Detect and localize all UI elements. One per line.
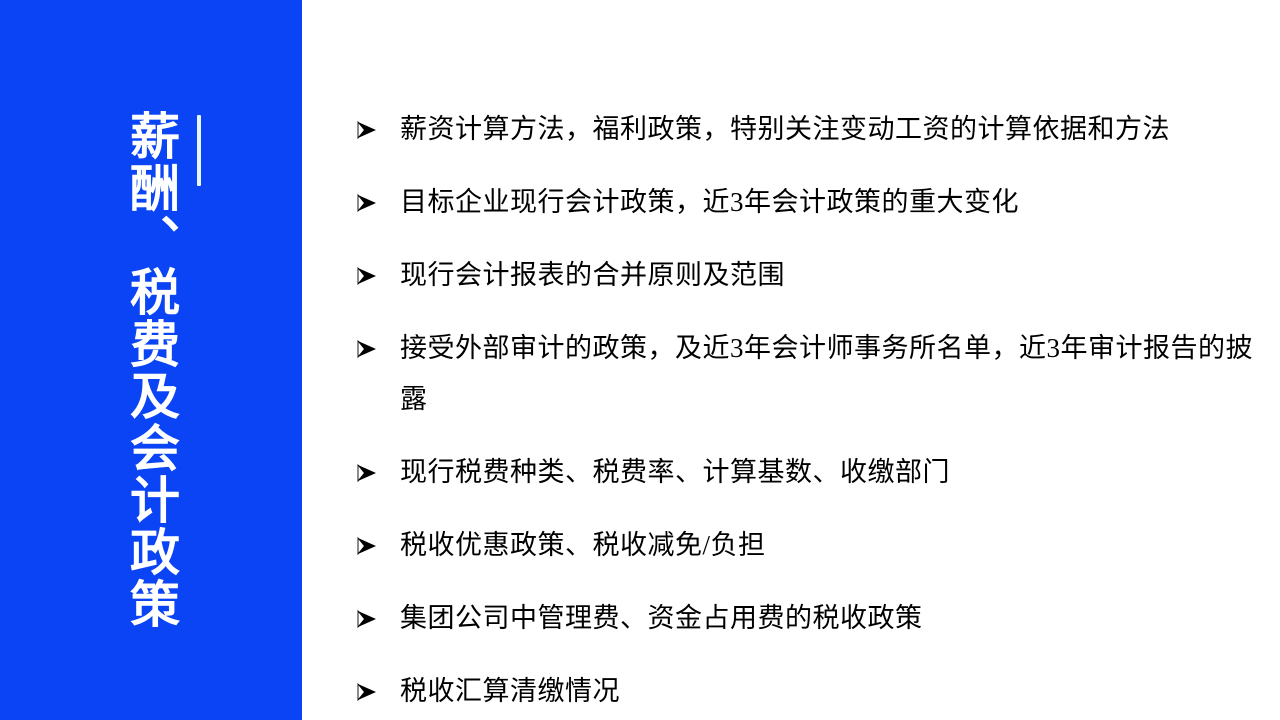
- list-item-label: 目标企业现行会计政策，近3年会计政策的重大变化: [400, 177, 1257, 228]
- arrowhead-bullet-icon: [356, 608, 378, 630]
- arrowhead-bullet-icon: [356, 119, 378, 141]
- content-area: 薪资计算方法，福利政策，特别关注变动工资的计算依据和方法目标企业现行会计政策，近…: [302, 0, 1280, 720]
- arrowhead-bullet-icon: [356, 535, 378, 557]
- slide: 薪酬、税费及会计政策 薪资计算方法，福利政策，特别关注变动工资的计算依据和方法目…: [0, 0, 1280, 720]
- arrowhead-bullet-icon: [356, 338, 378, 360]
- list-item: 税收优惠政策、税收减免/负担: [352, 520, 1257, 571]
- list-item: 接受外部审计的政策，及近3年会计师事务所名单，近3年审计报告的披露: [352, 323, 1257, 425]
- list-item-label: 现行会计报表的合并原则及范围: [400, 250, 1257, 301]
- list-item-label: 税收优惠政策、税收减免/负担: [400, 520, 1257, 571]
- arrowhead-bullet-icon: [356, 681, 378, 703]
- arrowhead-bullet-icon: [356, 192, 378, 214]
- title-accent-bar: [197, 115, 201, 186]
- list-item-label: 接受外部审计的政策，及近3年会计师事务所名单，近3年审计报告的披露: [400, 323, 1257, 425]
- list-item: 薪资计算方法，福利政策，特别关注变动工资的计算依据和方法: [352, 104, 1257, 155]
- list-item-label: 薪资计算方法，福利政策，特别关注变动工资的计算依据和方法: [400, 104, 1257, 155]
- list-item-label: 集团公司中管理费、资金占用费的税收政策: [400, 593, 1257, 644]
- list-item-label: 现行税费种类、税费率、计算基数、收缴部门: [400, 447, 1257, 498]
- list-item: 税收汇算清缴情况: [352, 666, 1257, 717]
- title-panel: 薪酬、税费及会计政策: [0, 0, 302, 720]
- page-title: 薪酬、税费及会计政策: [115, 110, 177, 630]
- list-item: 现行税费种类、税费率、计算基数、收缴部门: [352, 447, 1257, 498]
- list-item-label: 税收汇算清缴情况: [400, 666, 1257, 717]
- arrowhead-bullet-icon: [356, 265, 378, 287]
- arrowhead-bullet-icon: [356, 462, 378, 484]
- bullet-list: 薪资计算方法，福利政策，特别关注变动工资的计算依据和方法目标企业现行会计政策，近…: [352, 104, 1257, 720]
- list-item: 现行会计报表的合并原则及范围: [352, 250, 1257, 301]
- list-item: 集团公司中管理费、资金占用费的税收政策: [352, 593, 1257, 644]
- list-item: 目标企业现行会计政策，近3年会计政策的重大变化: [352, 177, 1257, 228]
